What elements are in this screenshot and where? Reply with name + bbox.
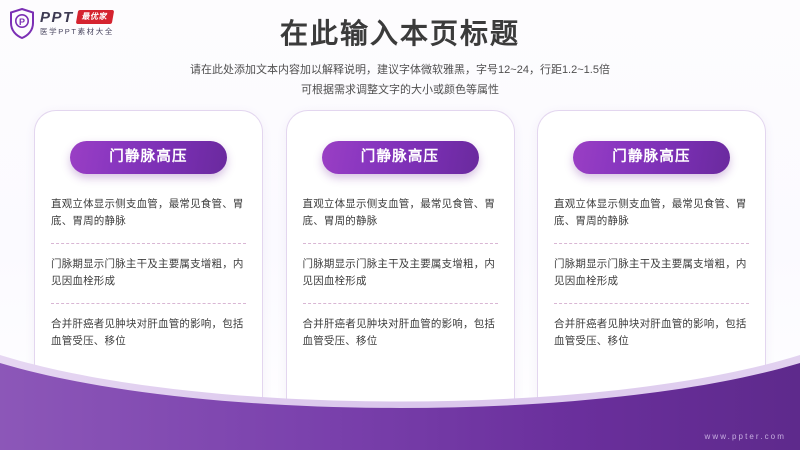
svg-text:P: P	[19, 17, 25, 27]
card-badge: 门静脉高压	[70, 141, 227, 174]
logo-text-block: PPT 最优家 医学PPT素材大全	[40, 9, 114, 37]
card-badge: 门静脉高压	[573, 141, 730, 174]
content-card[interactable]: 门静脉高压 直观立体显示侧支血管，最常见食管、胃底、胃周的静脉 门脉期显示门脉主…	[286, 110, 515, 410]
logo-primary-row: PPT 最优家	[40, 9, 114, 25]
site-watermark: www.ppter.com	[704, 432, 786, 441]
subtitle-line-1: 请在此处添加文本内容加以解释说明，建议字体微软雅黑，字号12~24，行距1.2~…	[0, 60, 800, 80]
shield-icon: P	[9, 8, 35, 39]
card-badge-label: 门静脉高压	[361, 150, 440, 165]
card-paragraph: 门脉期显示门脉主干及主要属支增粗，内见因血栓形成	[554, 256, 749, 290]
content-card[interactable]: 门静脉高压 直观立体显示侧支血管，最常见食管、胃底、胃周的静脉 门脉期显示门脉主…	[34, 110, 263, 410]
card-badge-label: 门静脉高压	[612, 150, 691, 165]
page-subtitle: 请在此处添加文本内容加以解释说明，建议字体微软雅黑，字号12~24，行距1.2~…	[0, 60, 800, 100]
subtitle-line-2: 可根据需求调整文字的大小或颜色等属性	[0, 80, 800, 100]
card-paragraph: 直观立体显示侧支血管，最常见食管、胃底、胃周的静脉	[554, 196, 749, 230]
card-divider	[51, 243, 246, 244]
card-paragraph: 直观立体显示侧支血管，最常见食管、胃底、胃周的静脉	[51, 196, 246, 230]
card-row: 门静脉高压 直观立体显示侧支血管，最常见食管、胃底、胃周的静脉 门脉期显示门脉主…	[34, 110, 766, 410]
card-divider	[554, 243, 749, 244]
card-divider	[303, 243, 498, 244]
card-badge: 门静脉高压	[322, 141, 479, 174]
card-paragraph: 合并肝癌者见肿块对肝血管的影响，包括血管受压、移位	[554, 316, 749, 350]
card-body: 直观立体显示侧支血管，最常见食管、胃底、胃周的静脉 门脉期显示门脉主干及主要属支…	[554, 196, 749, 350]
card-paragraph: 合并肝癌者见肿块对肝血管的影响，包括血管受压、移位	[51, 316, 246, 350]
card-paragraph: 直观立体显示侧支血管，最常见食管、胃底、胃周的静脉	[303, 196, 498, 230]
card-paragraph: 门脉期显示门脉主干及主要属支增粗，内见因血栓形成	[51, 256, 246, 290]
card-divider	[51, 303, 246, 304]
page-title: 在此输入本页标题	[0, 12, 800, 52]
card-divider	[554, 303, 749, 304]
card-body: 直观立体显示侧支血管，最常见食管、胃底、胃周的静脉 门脉期显示门脉主干及主要属支…	[303, 196, 498, 350]
card-paragraph: 合并肝癌者见肿块对肝血管的影响，包括血管受压、移位	[303, 316, 498, 350]
content-card[interactable]: 门静脉高压 直观立体显示侧支血管，最常见食管、胃底、胃周的静脉 门脉期显示门脉主…	[537, 110, 766, 410]
brand-logo: P PPT 最优家 医学PPT素材大全	[9, 6, 114, 40]
card-paragraph: 门脉期显示门脉主干及主要属支增粗，内见因血栓形成	[303, 256, 498, 290]
logo-brand-name: PPT	[40, 10, 74, 25]
slide-canvas: P PPT 最优家 医学PPT素材大全 在此输入本页标题 请在此处添加文本内容加…	[0, 0, 800, 450]
card-badge-label: 门静脉高压	[109, 150, 188, 165]
card-body: 直观立体显示侧支血管，最常见食管、胃底、胃周的静脉 门脉期显示门脉主干及主要属支…	[51, 196, 246, 350]
card-divider	[303, 303, 498, 304]
logo-tagline: 医学PPT素材大全	[40, 26, 114, 37]
logo-badge: 最优家	[75, 10, 113, 24]
